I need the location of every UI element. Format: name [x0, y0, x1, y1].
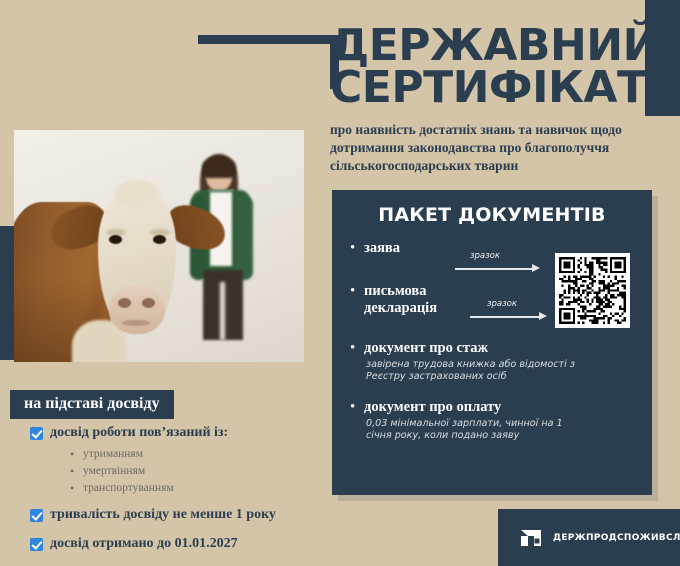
cow-poll	[114, 180, 160, 208]
cow-nostril-right	[142, 298, 155, 308]
checklist-item[interactable]: досвід отримано до 01.01.2027	[30, 535, 330, 553]
sub-bullet-item: утриманням	[70, 446, 330, 463]
checklist-item-label: досвід отримано до 01.01.2027	[50, 535, 238, 553]
sample-label-application: зразок	[470, 251, 500, 261]
footer-logo-bar: ДЕРЖПРОДСПОЖИВСЛУЖБА	[498, 509, 680, 566]
document-item-note: 0,03 мінімальної зарплати, чинної на 1 с…	[364, 418, 581, 442]
checklist-item[interactable]: тривалість досвіду не менше 1 року	[30, 506, 330, 524]
cow-muzzle	[109, 286, 165, 334]
document-item-note: завірена трудова книжка або відомості з …	[364, 359, 581, 383]
checklist-item-label: тривалість досвіду не менше 1 року	[50, 506, 276, 524]
qr-code[interactable]	[555, 253, 630, 328]
sample-arrow-line-application	[455, 268, 533, 270]
woman-leg-gap	[220, 282, 225, 340]
decor-corner-bracket	[198, 35, 339, 89]
organization-name: ДЕРЖПРОДСПОЖИВСЛУЖБА	[553, 533, 680, 543]
document-item-label: заява	[364, 240, 400, 257]
decor-navy-bar-left	[0, 226, 14, 344]
document-item-label: письмова декларація	[364, 283, 484, 317]
document-item-label: документ про стаж	[364, 340, 581, 357]
experience-badge: на підставі досвіду	[10, 390, 174, 419]
cow-eye-left	[109, 235, 122, 244]
document-item: • документ про стаж завірена трудова кни…	[350, 340, 652, 383]
sub-bullet-item: умертвінням	[70, 463, 330, 480]
page-title-line1: ДЕРЖАВНИЙ	[330, 26, 670, 66]
cow-mouth	[122, 320, 150, 326]
checkbox-checked-icon[interactable]	[30, 427, 43, 440]
checklist-item-label: досвід роботи пов’язаний із:	[50, 424, 228, 442]
documents-panel-title: ПАКЕТ ДОКУМЕНТІВ	[332, 204, 652, 226]
sub-bullet-item: транспортуванням	[70, 480, 330, 497]
woman-hair-top	[202, 156, 236, 178]
document-item-label: документ про оплату	[364, 399, 581, 416]
cow-eye-right	[153, 235, 166, 244]
infographic-canvas: ДЕРЖАВНИЙ СЕРТИФІКАТ про наявність доста…	[0, 0, 680, 566]
hero-photo	[14, 130, 304, 362]
document-item: • документ про оплату 0,03 мінімальної з…	[350, 399, 652, 442]
sample-arrow-head-declaration	[539, 312, 547, 320]
bullet-icon: •	[350, 283, 364, 299]
derzhprodspozhyvsluzhba-logo-icon	[518, 526, 544, 550]
cow-nostril-left	[118, 298, 131, 308]
page-title-line2: СЕРТИФІКАТ	[330, 68, 670, 108]
bullet-icon: •	[350, 399, 364, 415]
bullet-icon: •	[350, 340, 364, 356]
checkbox-checked-icon[interactable]	[30, 538, 43, 551]
header-block: ДЕРЖАВНИЙ СЕРТИФІКАТ про наявність доста…	[330, 26, 670, 175]
checklist-item[interactable]: досвід роботи пов’язаний із:	[30, 424, 330, 442]
woman-arm-right	[236, 196, 253, 280]
experience-checklist: досвід роботи пов’язаний із: утриманням …	[30, 424, 330, 556]
bullet-icon: •	[350, 240, 364, 256]
sample-arrow-head-application	[532, 264, 540, 272]
experience-sub-bullets: утриманням умертвінням транспортуванням	[70, 446, 330, 498]
checkbox-checked-icon[interactable]	[30, 509, 43, 522]
qr-code-image	[559, 257, 626, 324]
documents-panel: ПАКЕТ ДОКУМЕНТІВ • заява • письмова декл…	[332, 190, 652, 495]
page-subtitle: про наявність достатніх знань та навичок…	[330, 121, 648, 175]
sample-label-declaration: зразок	[487, 299, 517, 309]
sample-arrow-line-declaration	[470, 316, 540, 318]
